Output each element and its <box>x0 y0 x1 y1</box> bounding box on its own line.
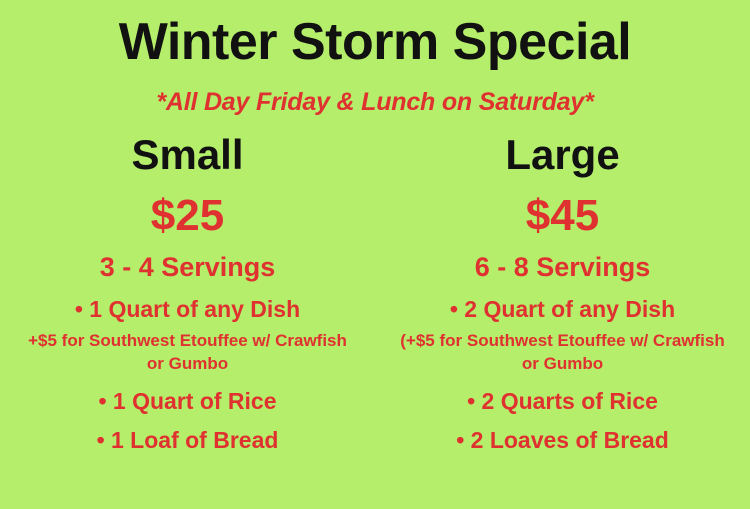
package-dish-line: • 1 Quart of any Dish <box>6 296 369 322</box>
package-name: Small <box>6 133 369 177</box>
package-servings: 3 - 4 Servings <box>6 253 369 283</box>
package-upcharge-note: +$5 for Southwest Etouffee w/ Crawfish o… <box>6 330 369 374</box>
package-name: Large <box>381 133 744 177</box>
promo-subtitle: *All Day Friday & Lunch on Saturday* <box>0 88 750 117</box>
package-price: $25 <box>6 193 369 239</box>
package-upcharge-note: (+$5 for Southwest Etouffee w/ Crawfish … <box>381 330 744 374</box>
pricing-columns: Small $25 3 - 4 Servings • 1 Quart of an… <box>0 133 750 453</box>
package-dish-line: • 2 Quart of any Dish <box>381 296 744 322</box>
package-rice-line: • 1 Quart of Rice <box>6 388 369 414</box>
page-title: Winter Storm Special <box>0 0 750 68</box>
package-price: $45 <box>381 193 744 239</box>
pricing-column-small: Small $25 3 - 4 Servings • 1 Quart of an… <box>0 133 375 453</box>
package-rice-line: • 2 Quarts of Rice <box>381 388 744 414</box>
package-bread-line: • 2 Loaves of Bread <box>381 427 744 453</box>
pricing-column-large: Large $45 6 - 8 Servings • 2 Quart of an… <box>375 133 750 453</box>
promo-poster: Winter Storm Special *All Day Friday & L… <box>0 0 750 509</box>
package-servings: 6 - 8 Servings <box>381 253 744 283</box>
package-bread-line: • 1 Loaf of Bread <box>6 427 369 453</box>
